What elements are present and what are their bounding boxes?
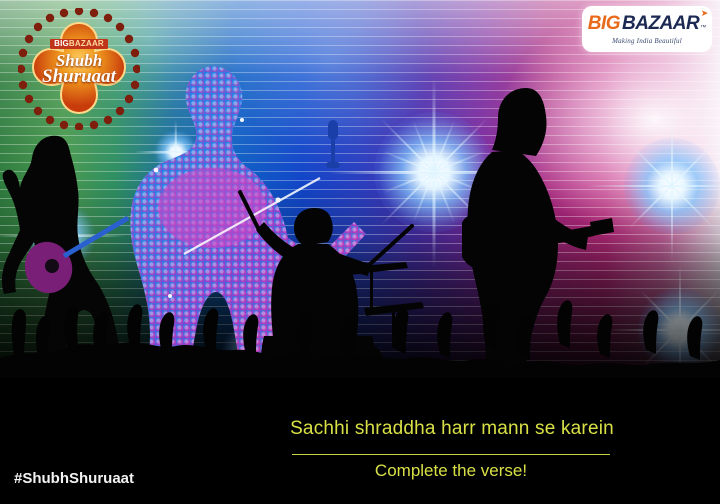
- logo-word-big: BIG: [588, 13, 620, 35]
- microphone-icon: [316, 118, 350, 174]
- badge-line-2: Shuruaat: [18, 67, 140, 86]
- text-divider: [292, 454, 610, 455]
- campaign-hashtag: #ShubhShuruaat: [14, 470, 134, 487]
- logo-trademark: ™: [700, 25, 706, 31]
- swoosh-icon: ➤: [701, 8, 709, 19]
- badge-text-block: BIGBAZAAR Shubh Shuruaat: [18, 34, 140, 86]
- call-to-action: Complete the verse!: [292, 461, 610, 481]
- shubh-shuruaat-badge: BIGBAZAAR Shubh Shuruaat: [18, 8, 140, 130]
- badge-brand-big: BIG: [54, 39, 69, 48]
- big-bazaar-wordmark: BIG BAZAAR ™ ➤: [588, 13, 707, 35]
- badge-brand-mark: BIGBAZAAR: [50, 39, 108, 49]
- logo-word-bazaar: BAZAAR: [622, 13, 699, 35]
- verse-line: Sachhi shraddha harr mann se karein: [252, 418, 652, 440]
- logo-tagline: Making India Beautiful: [612, 37, 682, 45]
- big-bazaar-logo: BIG BAZAAR ™ ➤ Making India Beautiful: [582, 6, 712, 52]
- badge-brand-bazaar: BAZAAR: [69, 39, 104, 48]
- promo-poster: BIGBAZAAR Shubh Shuruaat BIG BAZAAR ™ ➤ …: [0, 0, 720, 504]
